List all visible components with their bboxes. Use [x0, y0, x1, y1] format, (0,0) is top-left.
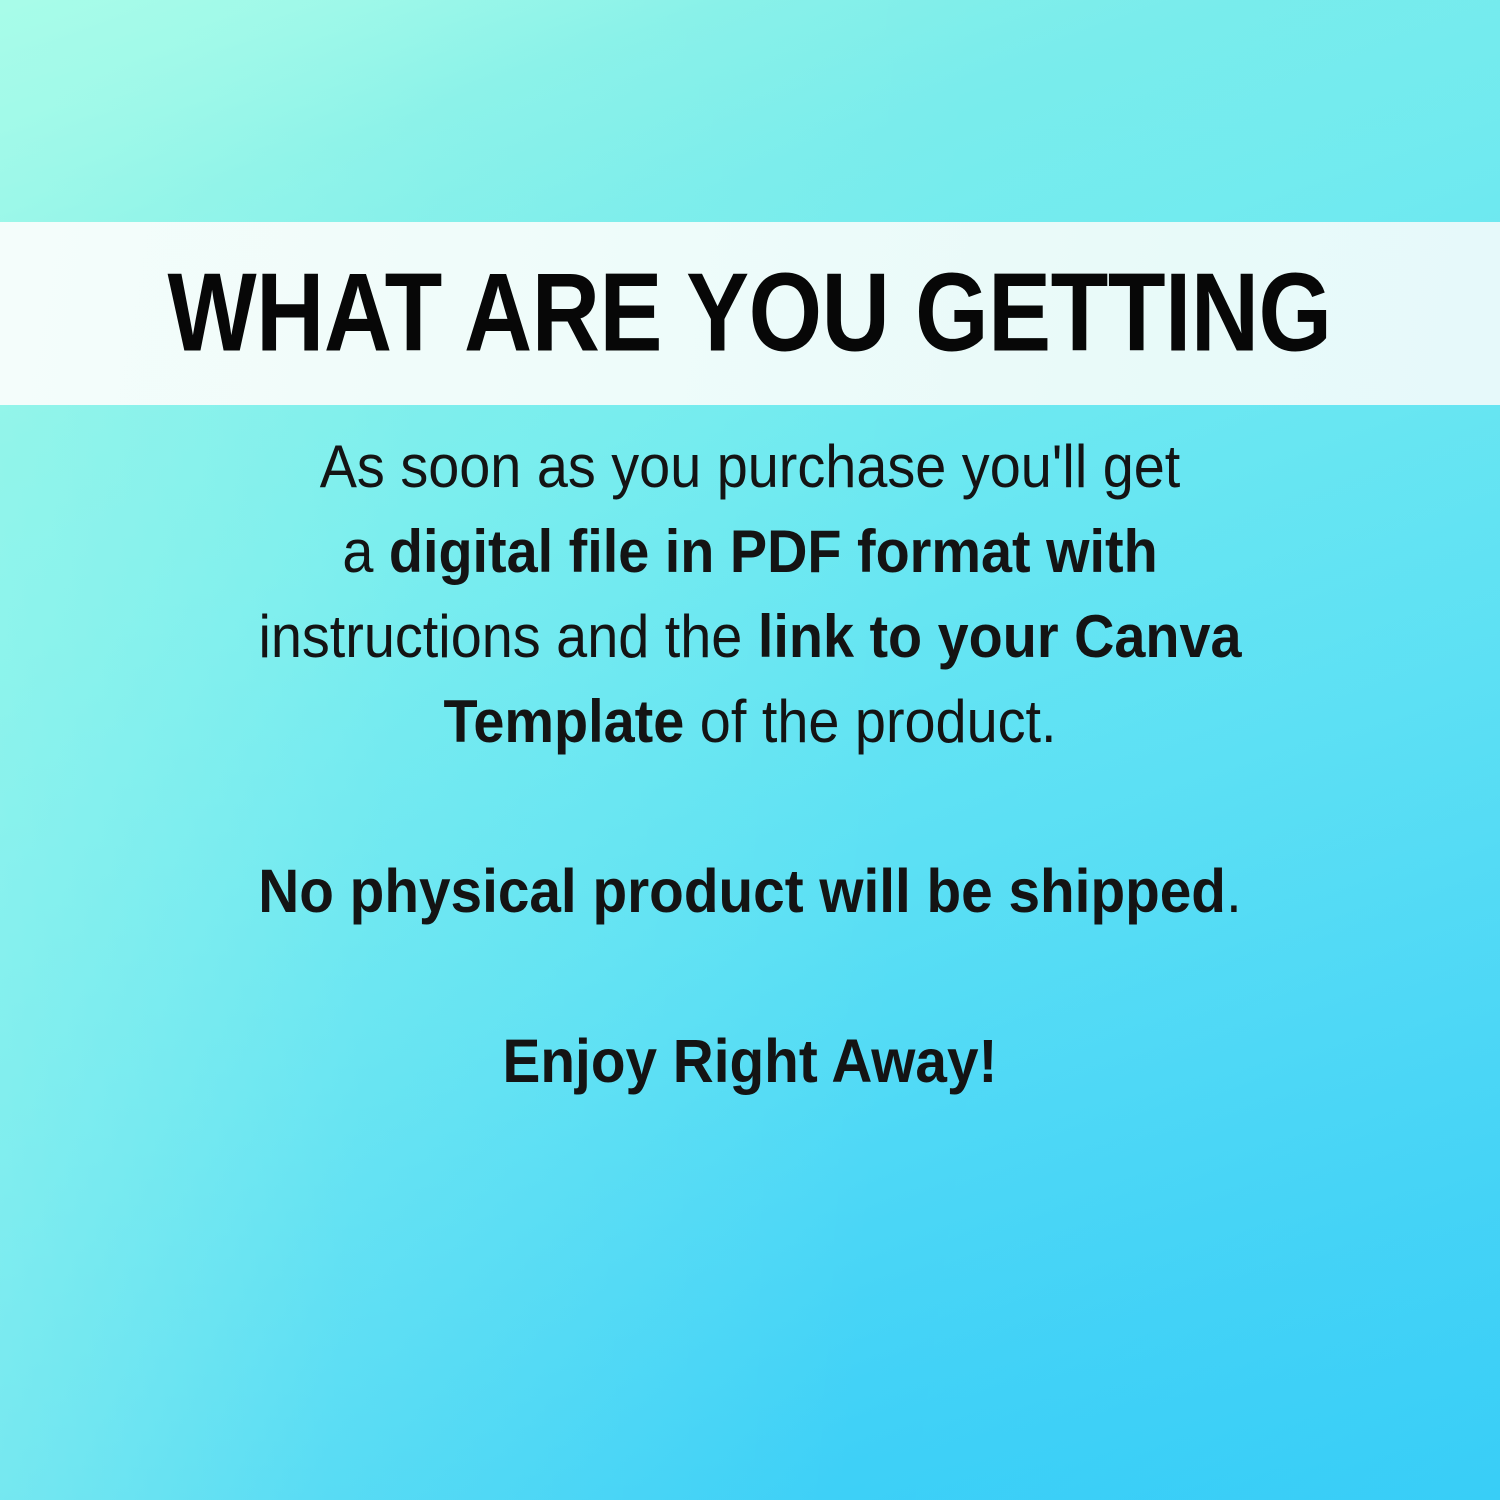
paragraph-1-line-1-text: As soon as you purchase you'll get — [320, 433, 1181, 500]
paragraph-1-line-2-text: a — [342, 518, 389, 585]
paragraph-1-line-2-bold: digital file in PDF format with — [389, 518, 1158, 585]
enjoy-right-away-bold: Enjoy Right Away! — [503, 1027, 998, 1095]
paragraph-1-line-4-text: of the product. — [684, 688, 1056, 755]
paragraph-no-physical-product: No physical product will be shipped. — [53, 849, 1448, 934]
paragraph-line-3: instructions and the link to your Canva — [53, 594, 1448, 679]
no-physical-product-period: . — [1226, 857, 1242, 925]
paragraph-1-line-3-text: instructions and the — [258, 603, 757, 670]
paragraph-spacer-1 — [0, 764, 1500, 849]
page-title: WHAT ARE YOU GETTING — [168, 258, 1332, 369]
paragraph-1-line-4-bold: Template — [443, 688, 684, 755]
no-physical-product-bold: No physical product will be shipped — [258, 857, 1226, 925]
paragraph-spacer-2 — [0, 934, 1500, 1019]
paragraph-1-line-3-bold: link to your Canva — [758, 603, 1242, 670]
paragraph-line-2: a digital file in PDF format with — [53, 509, 1448, 594]
poster-canvas: WHAT ARE YOU GETTING As soon as you purc… — [0, 0, 1500, 1500]
body-copy: As soon as you purchase you'll get a dig… — [0, 424, 1500, 1104]
title-band: WHAT ARE YOU GETTING — [0, 222, 1500, 405]
paragraph-line-1: As soon as you purchase you'll get — [53, 424, 1448, 509]
paragraph-enjoy-right-away: Enjoy Right Away! — [53, 1019, 1448, 1104]
paragraph-line-4: Template of the product. — [53, 679, 1448, 764]
